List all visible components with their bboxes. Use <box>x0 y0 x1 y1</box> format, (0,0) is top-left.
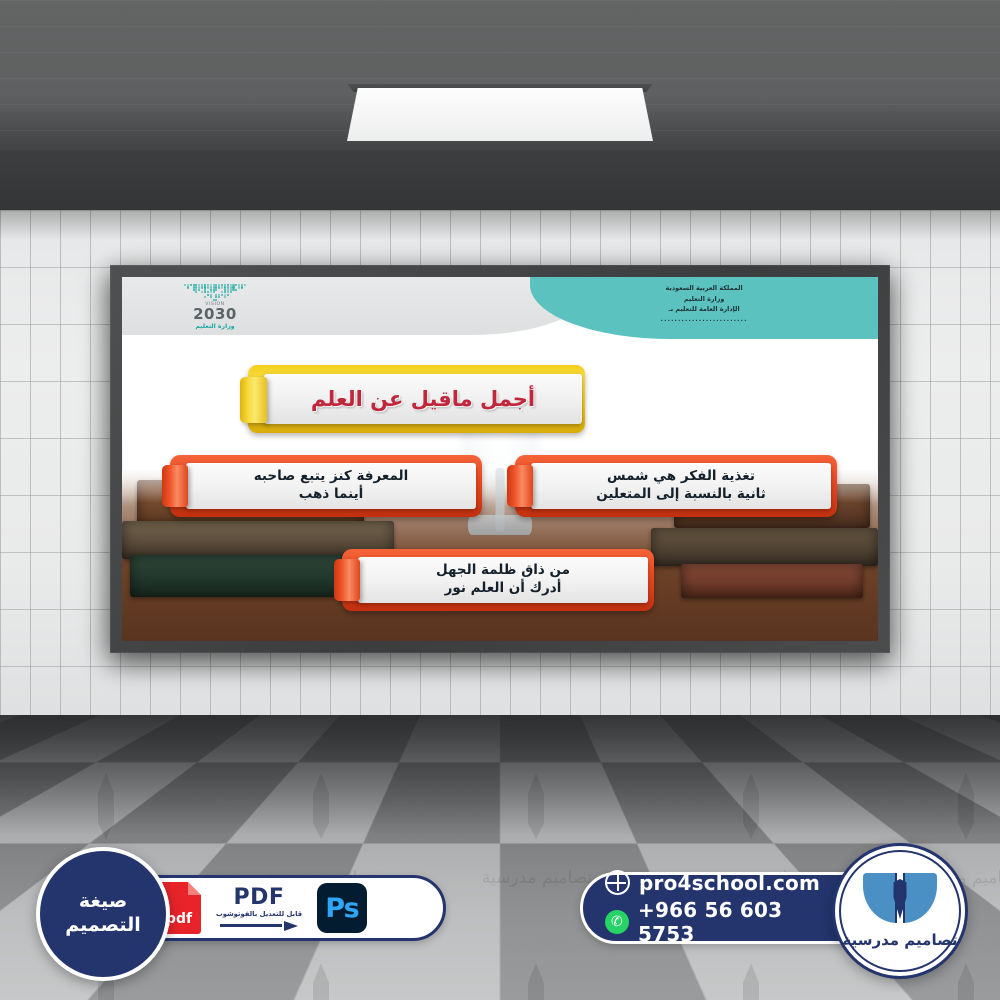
wall-top-shadow <box>0 210 1000 240</box>
kingdom-line-4: ......................... <box>530 315 878 325</box>
poster[interactable]: المملكة العربية السعودية وزارة التعليم ا… <box>122 277 878 641</box>
design-format-bar: pdf PDF قابل للتعديل بالفوتوشوب Ps <box>128 875 446 941</box>
page-title: أجمل ماقيل عن العلم <box>311 387 535 411</box>
vision-ministry-label: وزارة التعليم <box>180 323 250 330</box>
lamp-base <box>468 515 532 535</box>
vision-dots-graphic <box>184 284 246 301</box>
globe-icon <box>605 870 630 895</box>
book-pen-icon <box>863 873 937 929</box>
whatsapp-icon: ✆ <box>605 910 629 934</box>
vision-2030-logo: VISION 2030 وزارة التعليم <box>180 284 250 331</box>
website-row[interactable]: pro4school.com <box>605 870 807 895</box>
format-badge: صيغة التصميم <box>36 847 170 981</box>
pdf-big-label: PDF <box>234 887 285 909</box>
format-badge-label: صيغة التصميم <box>65 890 141 938</box>
pdf-conversion-note: PDF قابل للتعديل بالفوتوشوب <box>213 887 305 930</box>
book-left-page <box>863 873 897 923</box>
kingdom-line-1: المملكة العربية السعودية <box>530 283 878 294</box>
phone-row[interactable]: ✆ +966 56 603 5753 <box>605 898 807 946</box>
quote-text: من ذاق ظلمة الجهل أدرك أن العلم نور <box>436 562 570 597</box>
ministry-header-text: المملكة العربية السعودية وزارة التعليم ا… <box>530 283 878 325</box>
photoshop-icon: Ps <box>317 883 367 933</box>
quote-text: المعرفة كنز يتبع صاحبه أينما ذهب <box>254 468 409 503</box>
title-plate: أجمل ماقيل عن العلم <box>264 374 582 424</box>
vision-year: 2030 <box>180 307 250 322</box>
title-ribbon-fold <box>240 377 267 423</box>
ceiling-shadow-band <box>0 150 1000 212</box>
ceiling-light-panel <box>347 88 653 141</box>
scene-root: المملكة العربية السعودية وزارة التعليم ا… <box>0 0 1000 1000</box>
brand-logo[interactable]: تصاميم مدرسية <box>832 843 968 979</box>
quote-card-fold <box>334 559 360 601</box>
floor-horizon-shadow <box>0 715 1000 835</box>
book-right-page <box>903 873 937 923</box>
quote-card-plate: تغذية الفكر هي شمس ثانية بالنسبة إلى الم… <box>531 463 831 509</box>
poster-title-ribbon: أجمل ماقيل عن العلم <box>240 365 585 433</box>
photoshop-label: Ps <box>325 893 358 924</box>
pdf-editable-note: قابل للتعديل بالفوتوشوب <box>216 910 302 918</box>
kingdom-line-2: وزارة التعليم <box>530 294 878 305</box>
phone-number[interactable]: +966 56 603 5753 <box>638 898 807 946</box>
arrow-right-icon <box>220 921 298 930</box>
display-board-frame[interactable]: المملكة العربية السعودية وزارة التعليم ا… <box>110 265 890 653</box>
quote-card-bottom-center: من ذاق ظلمة الجهل أدرك أن العلم نور <box>334 549 654 611</box>
quote-card-plate: من ذاق ظلمة الجهل أدرك أن العلم نور <box>358 557 648 603</box>
kingdom-line-3: الإدارة العامة للتعليم بـ <box>530 304 878 315</box>
website-url[interactable]: pro4school.com <box>639 871 820 895</box>
quote-card-fold <box>507 465 533 507</box>
quote-card-top-right: تغذية الفكر هي شمس ثانية بالنسبة إلى الم… <box>507 455 837 517</box>
quote-card-plate: المعرفة كنز يتبع صاحبه أينما ذهب <box>186 463 476 509</box>
quote-card-fold <box>162 465 188 507</box>
quote-text: تغذية الفكر هي شمس ثانية بالنسبة إلى الم… <box>596 468 766 503</box>
quote-card-top-left: المعرفة كنز يتبع صاحبه أينما ذهب <box>162 455 482 517</box>
